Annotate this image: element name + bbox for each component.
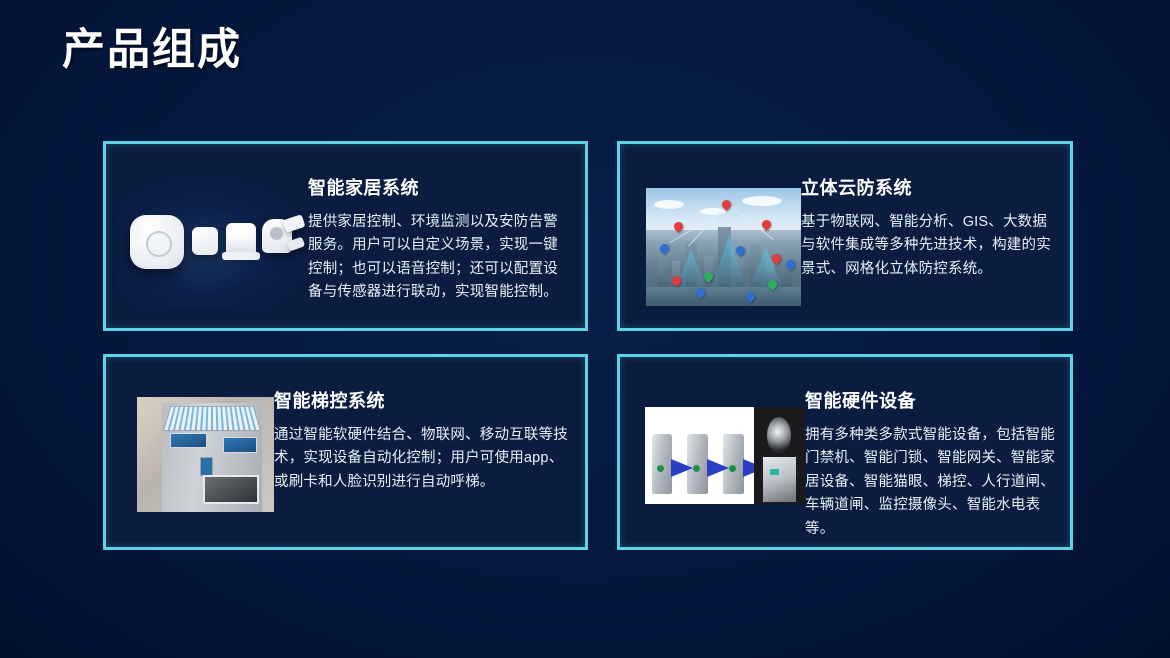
building-shape [658, 252, 668, 292]
slide-canvas: 产品组成 智能家居系统 提供家居控制、环境监测以及安防告警服务 [0, 0, 1170, 658]
card-title: 智能梯控系统 [274, 387, 571, 413]
cards-grid: 智能家居系统 提供家居控制、环境监测以及安防告警服务。用户可以自定义场景，实现一… [103, 141, 1073, 551]
card-title: 智能家居系统 [308, 174, 571, 200]
card-inner: 立体云防系统 基于物联网、智能分析、GIS、大数据与软件集成等多种先进技术，构建… [620, 144, 1070, 328]
gate-flap-icon [707, 459, 729, 477]
cloud-icon [742, 196, 782, 206]
turnstile-gate-icon [652, 434, 673, 494]
card-description: 拥有多种类多款式智能设备，包括智能门禁机、智能门锁、智能网关、智能家居设备、智能… [805, 424, 1056, 541]
card-description: 提供家居控制、环境监测以及安防告警服务。用户可以自定义场景，实现一键控制；也可以… [308, 211, 571, 305]
card-thumbnail-wrap [106, 357, 274, 512]
gate-flap-icon [671, 459, 693, 477]
card-smart-elevator-control-system[interactable]: 智能梯控系统 通过智能软硬件结合、物联网、移动互联等技术，实现设备自动化控制；用… [103, 354, 588, 550]
card-stereo-cloud-defense-system[interactable]: 立体云防系统 基于物联网、智能分析、GIS、大数据与软件集成等多种先进技术，构建… [617, 141, 1073, 331]
card-thumbnail-wrap [106, 144, 308, 309]
elevator-interior-image [137, 397, 274, 512]
elevator-inset-photo [203, 475, 259, 504]
city-cloud-defense-image [646, 188, 801, 306]
smart-hub-icon [130, 215, 184, 269]
card-description: 基于物联网、智能分析、GIS、大数据与软件集成等多种先进技术，构建的实景式、网格… [801, 211, 1056, 281]
page-title: 产品组成 [62, 26, 242, 75]
card-thumbnail-wrap [620, 144, 801, 306]
card-text-wrap: 智能梯控系统 通过智能软硬件结合、物联网、移动互联等技术，实现设备自动化控制；用… [274, 357, 585, 494]
smart-home-devices-image [118, 179, 308, 309]
river-layer [646, 287, 801, 306]
card-thumbnail-wrap [620, 357, 805, 504]
cloud-icon [654, 200, 684, 209]
card-inner: 智能梯控系统 通过智能软硬件结合、物联网、移动互联等技术，实现设备自动化控制；用… [106, 357, 585, 547]
card-inner: 智能家居系统 提供家居控制、环境监测以及安防告警服务。用户可以自定义场景，实现一… [106, 144, 585, 328]
turnstile-panel [645, 407, 754, 504]
remote-tag-icon [282, 214, 305, 233]
card-title: 智能硬件设备 [805, 387, 1056, 413]
elevator-display-screen [223, 437, 257, 453]
card-text-wrap: 立体云防系统 基于物联网、智能分析、GIS、大数据与软件集成等多种先进技术，构建… [801, 144, 1070, 281]
smart-door-lock-icon [763, 457, 796, 502]
door-sensor-icon [192, 227, 218, 255]
elevator-display-screen [170, 433, 208, 449]
ceiling-light-panel [163, 406, 262, 431]
smoke-detector-icon [226, 223, 256, 255]
smart-peephole-icon [767, 417, 791, 454]
card-title: 立体云防系统 [801, 174, 1056, 200]
card-description: 通过智能软硬件结合、物联网、移动互联等技术，实现设备自动化控制；用户可使用app… [274, 424, 571, 494]
turnstile-gates-image [645, 407, 805, 504]
door-device-panel [754, 407, 805, 504]
card-inner: 智能硬件设备 拥有多种类多款式智能设备，包括智能门禁机、智能门锁、智能网关、智能… [620, 357, 1070, 547]
card-smart-home-system[interactable]: 智能家居系统 提供家居控制、环境监测以及安防告警服务。用户可以自定义场景，实现一… [103, 141, 588, 331]
card-text-wrap: 智能硬件设备 拥有多种类多款式智能设备，包括智能门禁机、智能门锁、智能网关、智能… [805, 357, 1070, 541]
elevator-control-panel [200, 457, 213, 476]
card-text-wrap: 智能家居系统 提供家居控制、环境监测以及安防告警服务。用户可以自定义场景，实现一… [308, 144, 585, 305]
card-smart-hardware-devices[interactable]: 智能硬件设备 拥有多种类多款式智能设备，包括智能门禁机、智能门锁、智能网关、智能… [617, 354, 1073, 550]
